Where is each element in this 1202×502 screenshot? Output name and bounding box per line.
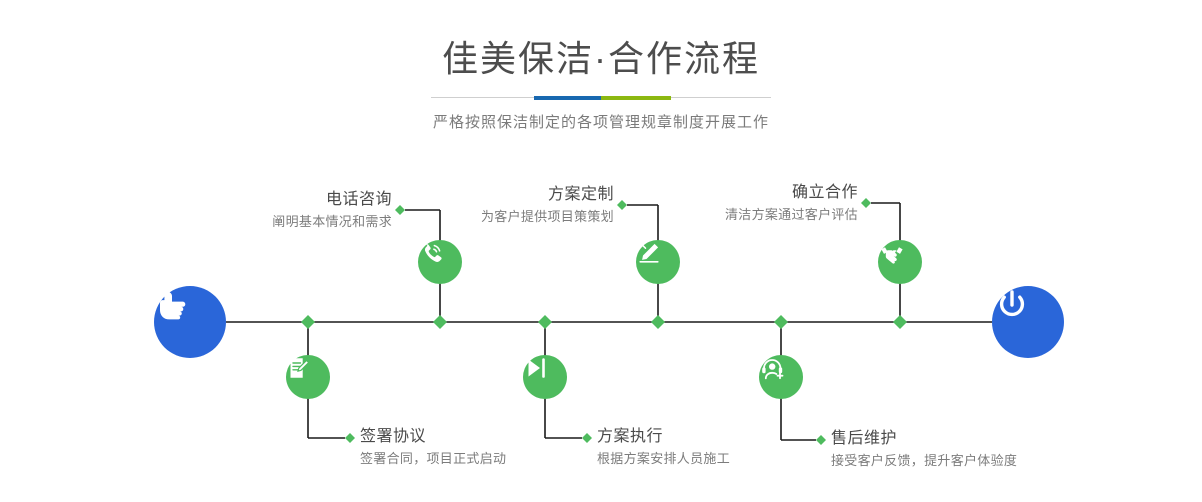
step-title: 方案执行 xyxy=(597,427,730,447)
step-icon-sign-agreement[interactable] xyxy=(286,355,330,399)
phone-call-icon xyxy=(418,240,444,266)
spine-node-bottom-1 xyxy=(301,315,315,329)
step-label-phone-consultation: 电话咨询 阐明基本情况和需求 xyxy=(180,190,392,232)
step-desc: 清洁方案通过客户评估 xyxy=(640,203,858,225)
spine-node-bottom-2 xyxy=(538,315,552,329)
flow-start-endpoint[interactable] xyxy=(154,286,226,358)
document-sign-icon xyxy=(286,355,312,381)
spine-node-bottom-3 xyxy=(774,315,788,329)
spine-node-top-2 xyxy=(651,315,665,329)
step-label-establish-cooperation: 确立合作 清洁方案通过客户评估 xyxy=(640,183,858,225)
step-icon-after-sales-service[interactable] xyxy=(759,355,803,399)
pointing-hand-icon xyxy=(154,286,194,326)
step-desc: 阐明基本情况和需求 xyxy=(180,210,392,232)
spine-node-top-1 xyxy=(433,315,447,329)
step-icon-plan-customization[interactable] xyxy=(636,240,680,284)
step-label-plan-customization: 方案定制 为客户提供项目策策划 xyxy=(400,185,614,227)
handshake-icon xyxy=(878,240,906,268)
step-title: 确立合作 xyxy=(640,183,858,203)
flow-end-endpoint[interactable] xyxy=(992,286,1064,358)
diamond-marker-top-3 xyxy=(861,198,871,208)
step-icon-plan-execution[interactable] xyxy=(523,355,567,399)
step-desc: 接受客户反馈，提升客户体验度 xyxy=(831,449,1017,471)
step-label-sign-agreement: 签署协议 签署合同，项目正式启动 xyxy=(360,427,506,469)
process-flow-diagram: 电话咨询 阐明基本情况和需求 方案定制 为客户提供项目策策划 确立合作 清洁方案… xyxy=(0,0,1202,502)
diamond-marker-bottom-3 xyxy=(816,435,826,445)
power-icon xyxy=(992,286,1032,326)
spine-node-top-3 xyxy=(893,315,907,329)
step-label-plan-execution: 方案执行 根据方案安排人员施工 xyxy=(597,427,730,469)
step-title: 方案定制 xyxy=(400,185,614,205)
step-title: 售后维护 xyxy=(831,429,1017,449)
step-icon-establish-cooperation[interactable] xyxy=(878,240,922,284)
diamond-marker-bottom-2 xyxy=(582,433,592,443)
play-execute-icon xyxy=(523,355,549,381)
step-title: 签署协议 xyxy=(360,427,506,447)
step-desc: 为客户提供项目策策划 xyxy=(400,205,614,227)
pencil-edit-icon xyxy=(636,240,662,266)
step-icon-phone-consultation[interactable] xyxy=(418,240,462,284)
diamond-marker-bottom-1 xyxy=(345,433,355,443)
step-label-after-sales-service: 售后维护 接受客户反馈，提升客户体验度 xyxy=(831,429,1017,471)
step-title: 电话咨询 xyxy=(180,190,392,210)
diamond-marker-top-2 xyxy=(617,200,627,210)
step-desc: 签署合同，项目正式启动 xyxy=(360,447,506,469)
customer-service-icon xyxy=(759,355,786,382)
step-desc: 根据方案安排人员施工 xyxy=(597,447,730,469)
